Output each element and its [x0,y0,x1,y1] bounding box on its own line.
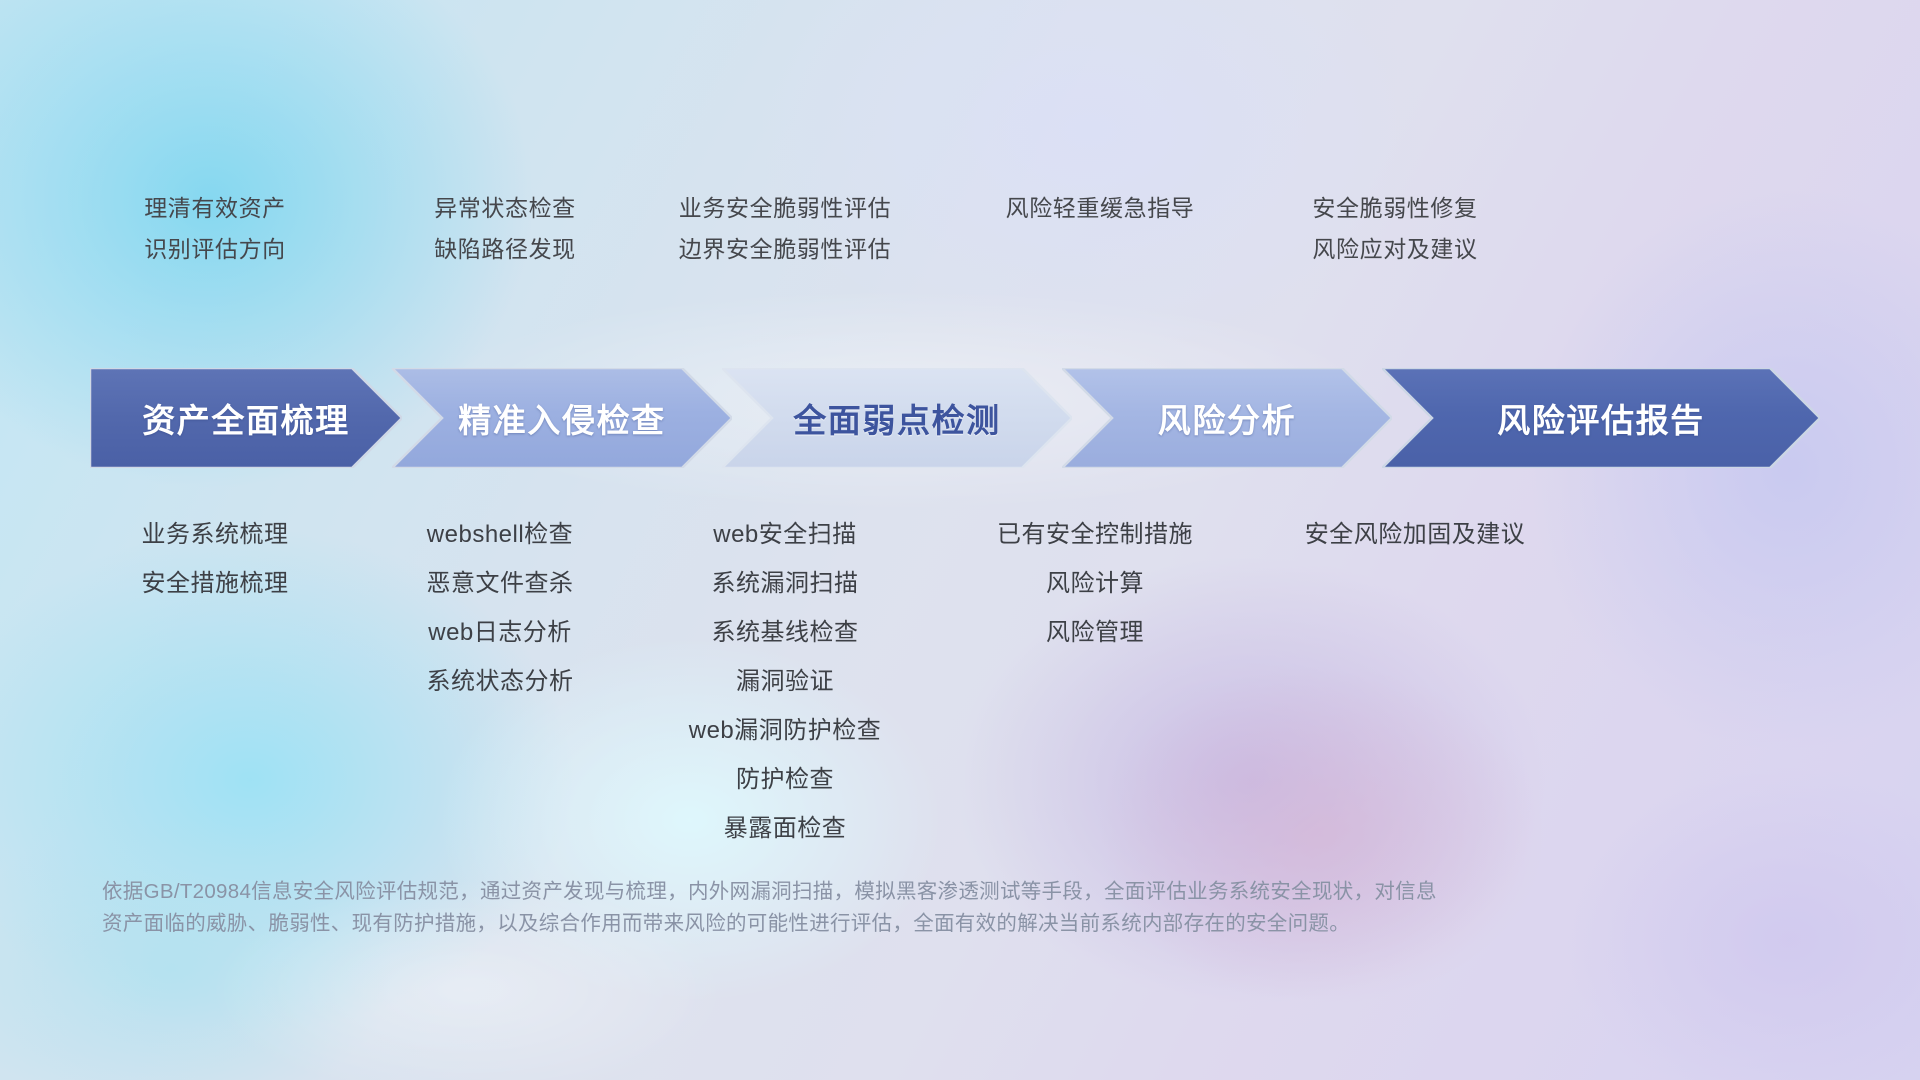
stage-chevron-intrusion-inspection[interactable]: 精准入侵检查 [392,368,732,468]
top-item: 安全脆弱性修复 [1175,188,1615,229]
top-group-risk-report: 安全脆弱性修复 风险应对及建议 [1175,188,1615,270]
detail-item: 暴露面检查 [615,804,955,853]
top-descriptions-row: 理清有效资产 识别评估方向 异常状态检查 缺陷路径发现 业务安全脆弱性评估 边界… [0,0,1920,368]
stage-chevron-asset-inventory[interactable]: 资产全面梳理 [90,368,402,468]
stage-label: 风险评估报告 [1497,394,1705,442]
footer-line: 依据GB/T20984信息安全风险评估规范，通过资产发现与梳理，内外网漏洞扫描，… [102,876,1662,908]
stage-chevron-weakness-detection[interactable]: 全面弱点检测 [722,368,1072,468]
detail-item: 漏洞验证 [615,657,955,706]
detail-item: 安全风险加固及建议 [1205,510,1625,559]
stage-label: 资产全面梳理 [142,394,350,442]
top-item: 风险应对及建议 [1175,229,1615,270]
top-item: 边界安全脆弱性评估 [585,229,985,270]
detail-item: 系统漏洞扫描 [615,559,955,608]
process-diagram: 理清有效资产 识别评估方向 异常状态检查 缺陷路径发现 业务安全脆弱性评估 边界… [0,0,1920,1080]
detail-item: 风险管理 [925,608,1265,657]
bottom-group-risk-report: 安全风险加固及建议 [1205,468,1625,559]
detail-item: 风险计算 [925,559,1265,608]
bottom-group-weakness-detection: web安全扫描 系统漏洞扫描 系统基线检查 漏洞验证 web漏洞防护检查 防护检… [615,468,955,853]
footer-line: 资产面临的威胁、脆弱性、现有防护措施，以及综合作用而带来风险的可能性进行评估，全… [102,908,1662,940]
stage-label: 全面弱点检测 [793,394,1001,442]
detail-item: 系统基线检查 [615,608,955,657]
stage-banner: 资产全面梳理 精准入侵检查 [0,368,1920,468]
bottom-details-row: 业务系统梳理 安全措施梳理 webshell检查 恶意文件查杀 web日志分析 … [0,468,1920,728]
stage-chevron-risk-analysis[interactable]: 风险分析 [1062,368,1392,468]
detail-item: web漏洞防护检查 [615,706,955,755]
stage-label: 精准入侵检查 [458,394,666,442]
stage-chevron-risk-report[interactable]: 风险评估报告 [1382,368,1820,468]
detail-item: web安全扫描 [615,510,955,559]
stage-label: 风险分析 [1158,394,1296,442]
detail-item: 防护检查 [615,755,955,804]
footer-note: 依据GB/T20984信息安全风险评估规范，通过资产发现与梳理，内外网漏洞扫描，… [102,876,1662,940]
